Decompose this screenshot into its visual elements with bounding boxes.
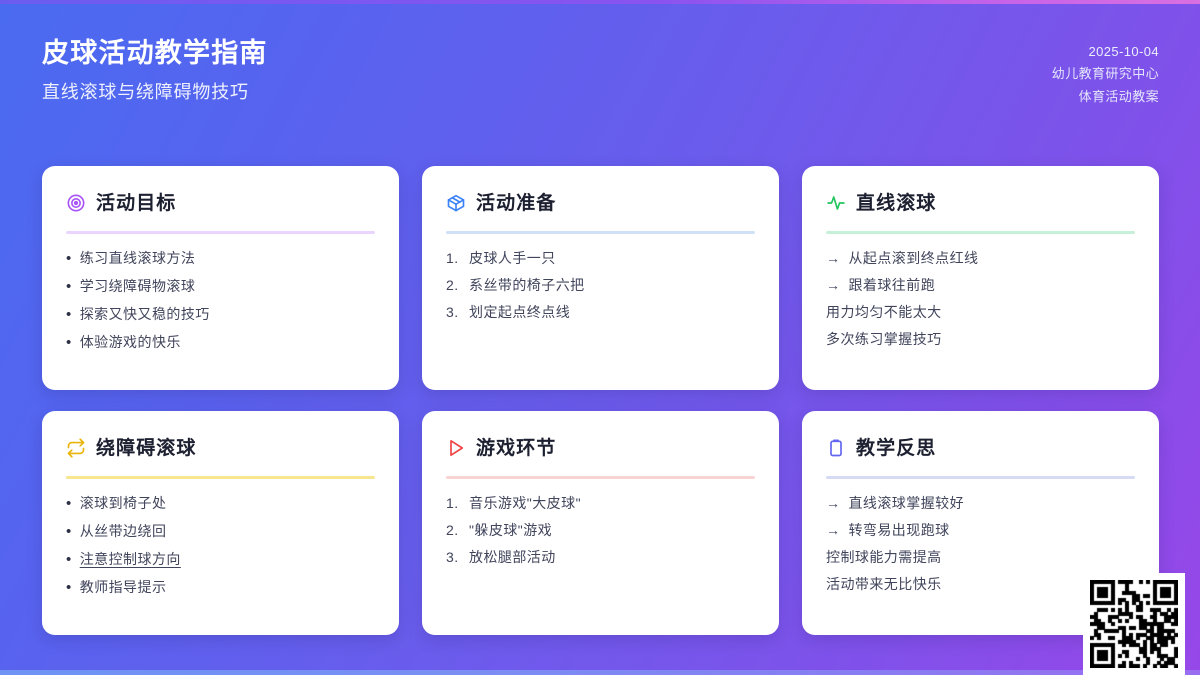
card-header: 活动目标 — [66, 188, 375, 218]
card-header: 教学反思 — [826, 433, 1135, 463]
list-item[interactable]: →从起点滚到终点红线 — [826, 251, 1135, 265]
list-item-text: 跟着球往前跑 — [848, 278, 1135, 292]
repeat-cycle-icon — [66, 438, 86, 458]
card-title: 教学反思 — [856, 439, 936, 458]
card-divider — [826, 476, 1135, 479]
card-title: 绕障碍滚球 — [96, 439, 197, 458]
list-item[interactable]: 用力均匀不能太大 — [826, 305, 1135, 319]
bullet-icon: • — [66, 307, 72, 322]
card-header: 直线滚球 — [826, 188, 1135, 218]
list-item-number: 2. — [446, 523, 461, 537]
list-item[interactable]: 3.放松腿部活动 — [446, 550, 755, 564]
clipboard-icon — [826, 438, 846, 458]
cards-grid: 活动目标•练习直线滚球方法•学习绕障碍物滚球•探索又快又稳的技巧•体验游戏的快乐… — [42, 166, 1158, 636]
list-item-text: 直线滚球掌握较好 — [848, 496, 1135, 510]
card-obstacle-rolling: 绕障碍滚球•滚球到椅子处•从丝带边绕回•注意控制球方向•教师指导提示 — [42, 411, 399, 635]
bullet-icon: • — [66, 335, 72, 350]
page-header: 皮球活动教学指南 直线滚球与绕障碍物技巧 2025-10-04 幼儿教育研究中心… — [0, 0, 1200, 150]
list-item-number: 1. — [446, 251, 461, 265]
header-organization: 幼儿教育研究中心 — [1052, 63, 1159, 85]
list-item-text: 从起点滚到终点红线 — [848, 251, 1135, 265]
list-item[interactable]: •教师指导提示 — [66, 580, 375, 595]
page-title: 皮球活动教学指南 — [42, 36, 268, 71]
card-item-list: →从起点滚到终点红线→跟着球往前跑用力均匀不能太大多次练习掌握技巧 — [826, 251, 1135, 346]
list-item[interactable]: 1.音乐游戏"大皮球" — [446, 496, 755, 510]
list-item-text: 体验游戏的快乐 — [80, 335, 375, 349]
bullet-icon: • — [66, 524, 72, 539]
list-item-text: "躲皮球"游戏 — [469, 523, 755, 537]
list-item-number: 3. — [446, 305, 461, 319]
list-item-text: 皮球人手一只 — [469, 251, 755, 265]
list-item-text: 从丝带边绕回 — [80, 524, 375, 538]
list-item[interactable]: →跟着球往前跑 — [826, 278, 1135, 292]
card-activity-preparation: 活动准备1.皮球人手一只2.系丝带的椅子六把3.划定起点终点线 — [422, 166, 779, 390]
list-item-text: 教师指导提示 — [80, 580, 375, 594]
list-item-text: 用力均匀不能太大 — [826, 305, 1135, 319]
list-item-text: 滚球到椅子处 — [80, 496, 375, 510]
list-item-text: 多次练习掌握技巧 — [826, 332, 1135, 346]
list-item[interactable]: 2."躲皮球"游戏 — [446, 523, 755, 537]
activity-pulse-icon — [826, 193, 846, 213]
card-divider — [446, 231, 755, 234]
list-item-text: 注意控制球方向 — [80, 552, 375, 566]
list-item-text: 学习绕障碍物滚球 — [80, 279, 375, 293]
target-icon — [66, 193, 86, 213]
list-item[interactable]: →转弯易出现跑球 — [826, 523, 1135, 537]
bullet-icon: • — [66, 279, 72, 294]
header-meta: 2025-10-04 幼儿教育研究中心 体育活动教案 — [1052, 41, 1159, 108]
card-straight-line-rolling: 直线滚球→从起点滚到终点红线→跟着球往前跑用力均匀不能太大多次练习掌握技巧 — [802, 166, 1159, 390]
list-item[interactable]: •滚球到椅子处 — [66, 496, 375, 511]
list-item[interactable]: •体验游戏的快乐 — [66, 335, 375, 350]
list-item-number: 2. — [446, 278, 461, 292]
list-item[interactable]: •探索又快又稳的技巧 — [66, 307, 375, 322]
list-item-text: 系丝带的椅子六把 — [469, 278, 755, 292]
card-divider — [66, 231, 375, 234]
header-date: 2025-10-04 — [1052, 41, 1159, 63]
list-item-text: 放松腿部活动 — [469, 550, 755, 564]
bullet-icon: • — [66, 580, 72, 595]
arrow-icon: → — [826, 523, 840, 537]
list-item-text: 控制球能力需提高 — [826, 550, 1135, 564]
card-header: 游戏环节 — [446, 433, 755, 463]
list-item-text: 探索又快又稳的技巧 — [80, 307, 375, 321]
list-item-number: 1. — [446, 496, 461, 510]
card-title: 游戏环节 — [476, 439, 556, 458]
list-item[interactable]: 2.系丝带的椅子六把 — [446, 278, 755, 292]
card-header: 活动准备 — [446, 188, 755, 218]
card-activity-goals: 活动目标•练习直线滚球方法•学习绕障碍物滚球•探索又快又稳的技巧•体验游戏的快乐 — [42, 166, 399, 390]
page-subtitle: 直线滚球与绕障碍物技巧 — [42, 81, 268, 104]
card-item-list: •滚球到椅子处•从丝带边绕回•注意控制球方向•教师指导提示 — [66, 496, 375, 595]
qr-code-container[interactable] — [1083, 573, 1185, 675]
list-item-text: 音乐游戏"大皮球" — [469, 496, 755, 510]
arrow-icon: → — [826, 278, 840, 292]
list-item[interactable]: •从丝带边绕回 — [66, 524, 375, 539]
card-title: 直线滚球 — [856, 194, 936, 213]
header-titles: 皮球活动教学指南 直线滚球与绕障碍物技巧 — [42, 36, 268, 104]
list-item[interactable]: 1.皮球人手一只 — [446, 251, 755, 265]
list-item[interactable]: •练习直线滚球方法 — [66, 251, 375, 266]
card-title: 活动目标 — [96, 194, 176, 213]
card-header: 绕障碍滚球 — [66, 433, 375, 463]
bullet-icon: • — [66, 552, 72, 567]
card-divider — [446, 476, 755, 479]
list-item-number: 3. — [446, 550, 461, 564]
list-item[interactable]: •学习绕障碍物滚球 — [66, 279, 375, 294]
bottom-accent-bar — [0, 670, 1200, 675]
list-item[interactable]: →直线滚球掌握较好 — [826, 496, 1135, 510]
list-item-text: 划定起点终点线 — [469, 305, 755, 319]
card-divider — [66, 476, 375, 479]
list-item-text: 转弯易出现跑球 — [848, 523, 1135, 537]
header-doc-type: 体育活动教案 — [1052, 86, 1159, 108]
list-item[interactable]: 3.划定起点终点线 — [446, 305, 755, 319]
card-title: 活动准备 — [476, 194, 556, 213]
list-item-text: 练习直线滚球方法 — [80, 251, 375, 265]
arrow-icon: → — [826, 496, 840, 510]
package-box-icon — [446, 193, 466, 213]
list-item[interactable]: 控制球能力需提高 — [826, 550, 1135, 564]
play-triangle-icon — [446, 438, 466, 458]
list-item[interactable]: •注意控制球方向 — [66, 552, 375, 567]
qr-code — [1090, 580, 1178, 668]
bullet-icon: • — [66, 496, 72, 511]
top-accent-bar — [0, 0, 1200, 4]
arrow-icon: → — [826, 251, 840, 265]
bullet-icon: • — [66, 251, 72, 266]
card-divider — [826, 231, 1135, 234]
list-item[interactable]: 多次练习掌握技巧 — [826, 332, 1135, 346]
card-item-list: •练习直线滚球方法•学习绕障碍物滚球•探索又快又稳的技巧•体验游戏的快乐 — [66, 251, 375, 350]
card-item-list: 1.皮球人手一只2.系丝带的椅子六把3.划定起点终点线 — [446, 251, 755, 319]
card-game-section: 游戏环节1.音乐游戏"大皮球"2."躲皮球"游戏3.放松腿部活动 — [422, 411, 779, 635]
card-item-list: 1.音乐游戏"大皮球"2."躲皮球"游戏3.放松腿部活动 — [446, 496, 755, 564]
